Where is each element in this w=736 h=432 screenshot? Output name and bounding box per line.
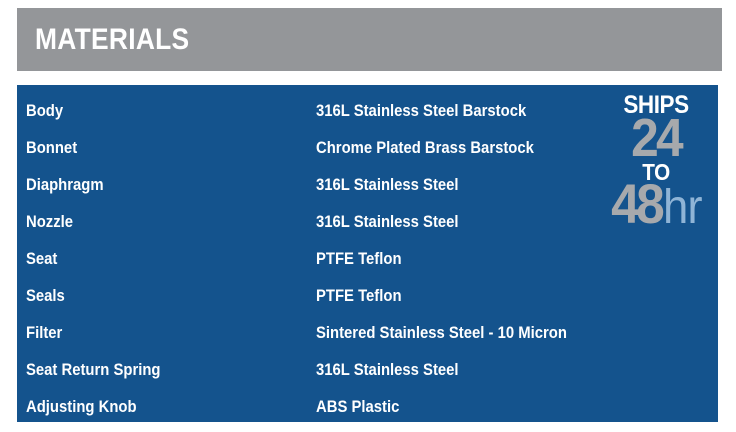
- component-name: Diaphragm: [26, 177, 287, 194]
- table-row: Bonnet Chrome Plated Brass Barstock: [17, 130, 718, 167]
- table-row: Body 316L Stainless Steel Barstock: [17, 93, 718, 130]
- component-material: 316L Stainless Steel: [316, 177, 678, 194]
- component-name: Seals: [26, 288, 287, 305]
- component-name: Seat Return Spring: [26, 362, 287, 379]
- component-material: Chrome Plated Brass Barstock: [316, 140, 678, 157]
- component-material: 316L Stainless Steel Barstock: [316, 103, 678, 120]
- table-row: Diaphragm 316L Stainless Steel: [17, 167, 718, 204]
- table-row: Seat PTFE Teflon: [17, 241, 718, 278]
- table-row: Seals PTFE Teflon: [17, 278, 718, 315]
- component-name: Seat: [26, 251, 287, 268]
- component-material: 316L Stainless Steel: [316, 362, 678, 379]
- component-name: Filter: [26, 325, 287, 342]
- page-title: MATERIALS: [35, 25, 189, 55]
- component-material: Sintered Stainless Steel - 10 Micron: [316, 325, 678, 342]
- table-row: Adjusting Knob ABS Plastic: [17, 389, 718, 422]
- table-row: Seat Return Spring 316L Stainless Steel: [17, 352, 718, 389]
- component-name: Adjusting Knob: [26, 399, 287, 416]
- component-material: 316L Stainless Steel: [316, 214, 678, 231]
- component-name: Nozzle: [26, 214, 287, 231]
- materials-table: Body 316L Stainless Steel Barstock Bonne…: [17, 85, 718, 422]
- table-row: Nozzle 316L Stainless Steel: [17, 204, 718, 241]
- component-name: Body: [26, 103, 287, 120]
- materials-panel: SHIPS 24 TO 48hr Body 316L Stainless Ste…: [17, 85, 718, 422]
- component-material: PTFE Teflon: [316, 251, 678, 268]
- section-header-bar: MATERIALS: [17, 8, 722, 71]
- component-material: PTFE Teflon: [316, 288, 678, 305]
- component-material: ABS Plastic: [316, 399, 678, 416]
- table-row: Filter Sintered Stainless Steel - 10 Mic…: [17, 315, 718, 352]
- component-name: Bonnet: [26, 140, 287, 157]
